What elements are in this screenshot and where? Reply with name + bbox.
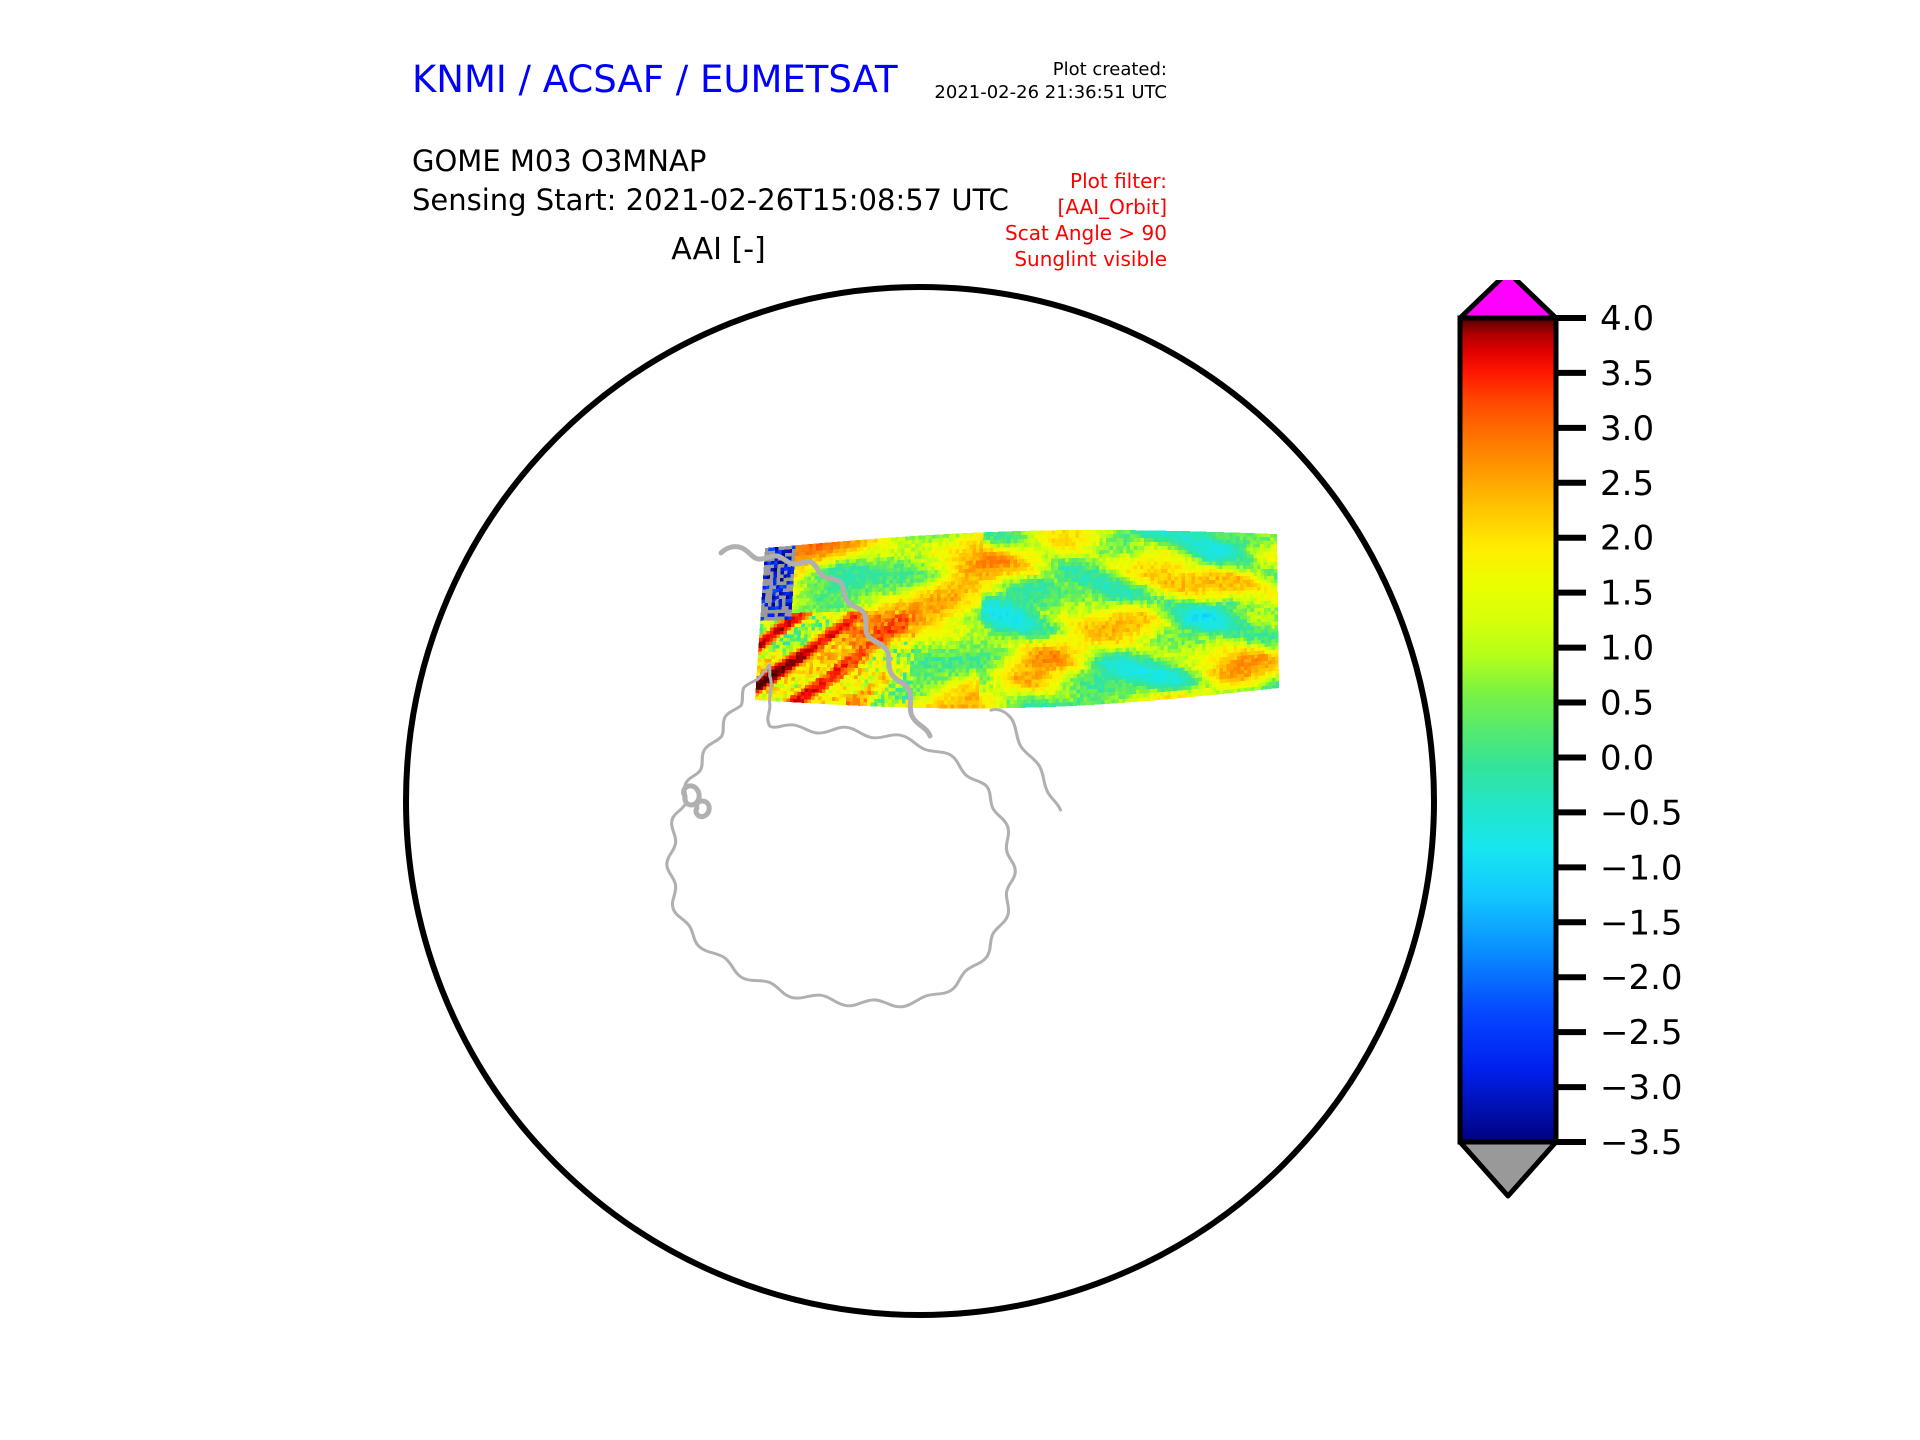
colorbar-tick-label: −3.0 <box>1600 1068 1683 1108</box>
plot-created-block: Plot created: 2021-02-26 21:36:51 UTC <box>934 58 1167 104</box>
colorbar-tick-label: −1.0 <box>1600 848 1683 888</box>
map-container <box>395 276 1445 1326</box>
colorbar-tick-label: 0.5 <box>1600 684 1654 724</box>
aai-swath <box>755 530 1279 709</box>
colorbar-tick-label: 3.0 <box>1600 409 1654 449</box>
colorbar-tick-label: −2.5 <box>1600 1013 1683 1053</box>
colorbar-container: 4.03.53.02.52.01.51.00.50.0−0.5−1.0−1.5−… <box>1440 280 1860 1310</box>
colorbar-tick-label: 1.5 <box>1600 574 1654 614</box>
colorbar-gradient <box>1460 318 1556 1142</box>
sensing-start: Sensing Start: 2021-02-26T15:08:57 UTC <box>412 181 1009 220</box>
plot-page: KNMI / ACSAF / EUMETSAT Plot created: 20… <box>0 0 1920 1440</box>
colorbar-under-arrow <box>1460 1142 1556 1196</box>
colorbar-tick-label: −3.5 <box>1600 1123 1683 1163</box>
colorbar-tick-label: 2.0 <box>1600 519 1654 559</box>
colorbar-tick-label: 1.0 <box>1600 629 1654 669</box>
colorbar-tick-label: −2.0 <box>1600 958 1683 998</box>
filter-line-product: [AAI_Orbit] <box>1005 194 1167 220</box>
product-info-block: GOME M03 O3MNAP Sensing Start: 2021-02-2… <box>412 142 1009 219</box>
plot-created-label: Plot created: <box>934 58 1167 81</box>
plot-created-timestamp: 2021-02-26 21:36:51 UTC <box>934 81 1167 104</box>
filter-line-title: Plot filter: <box>1005 168 1167 194</box>
colorbar-tick-label: −0.5 <box>1600 793 1683 833</box>
colorbar-tick-label: 3.5 <box>1600 354 1654 394</box>
colorbar-tick-label: 4.0 <box>1600 299 1654 339</box>
colorbar-over-arrow <box>1460 280 1556 318</box>
plot-title: AAI [-] <box>0 232 1437 267</box>
colorbar-tick-label: 2.5 <box>1600 464 1654 504</box>
organization-title: KNMI / ACSAF / EUMETSAT <box>412 58 898 101</box>
colorbar-tick-label: 0.0 <box>1600 738 1654 778</box>
colorbar-tick-label: −1.5 <box>1600 903 1683 943</box>
colorbar-ticks: 4.03.53.02.52.01.51.00.50.0−0.5−1.0−1.5−… <box>1556 299 1683 1163</box>
map-border-circle <box>406 287 1434 1315</box>
product-name: GOME M03 O3MNAP <box>412 142 1009 181</box>
